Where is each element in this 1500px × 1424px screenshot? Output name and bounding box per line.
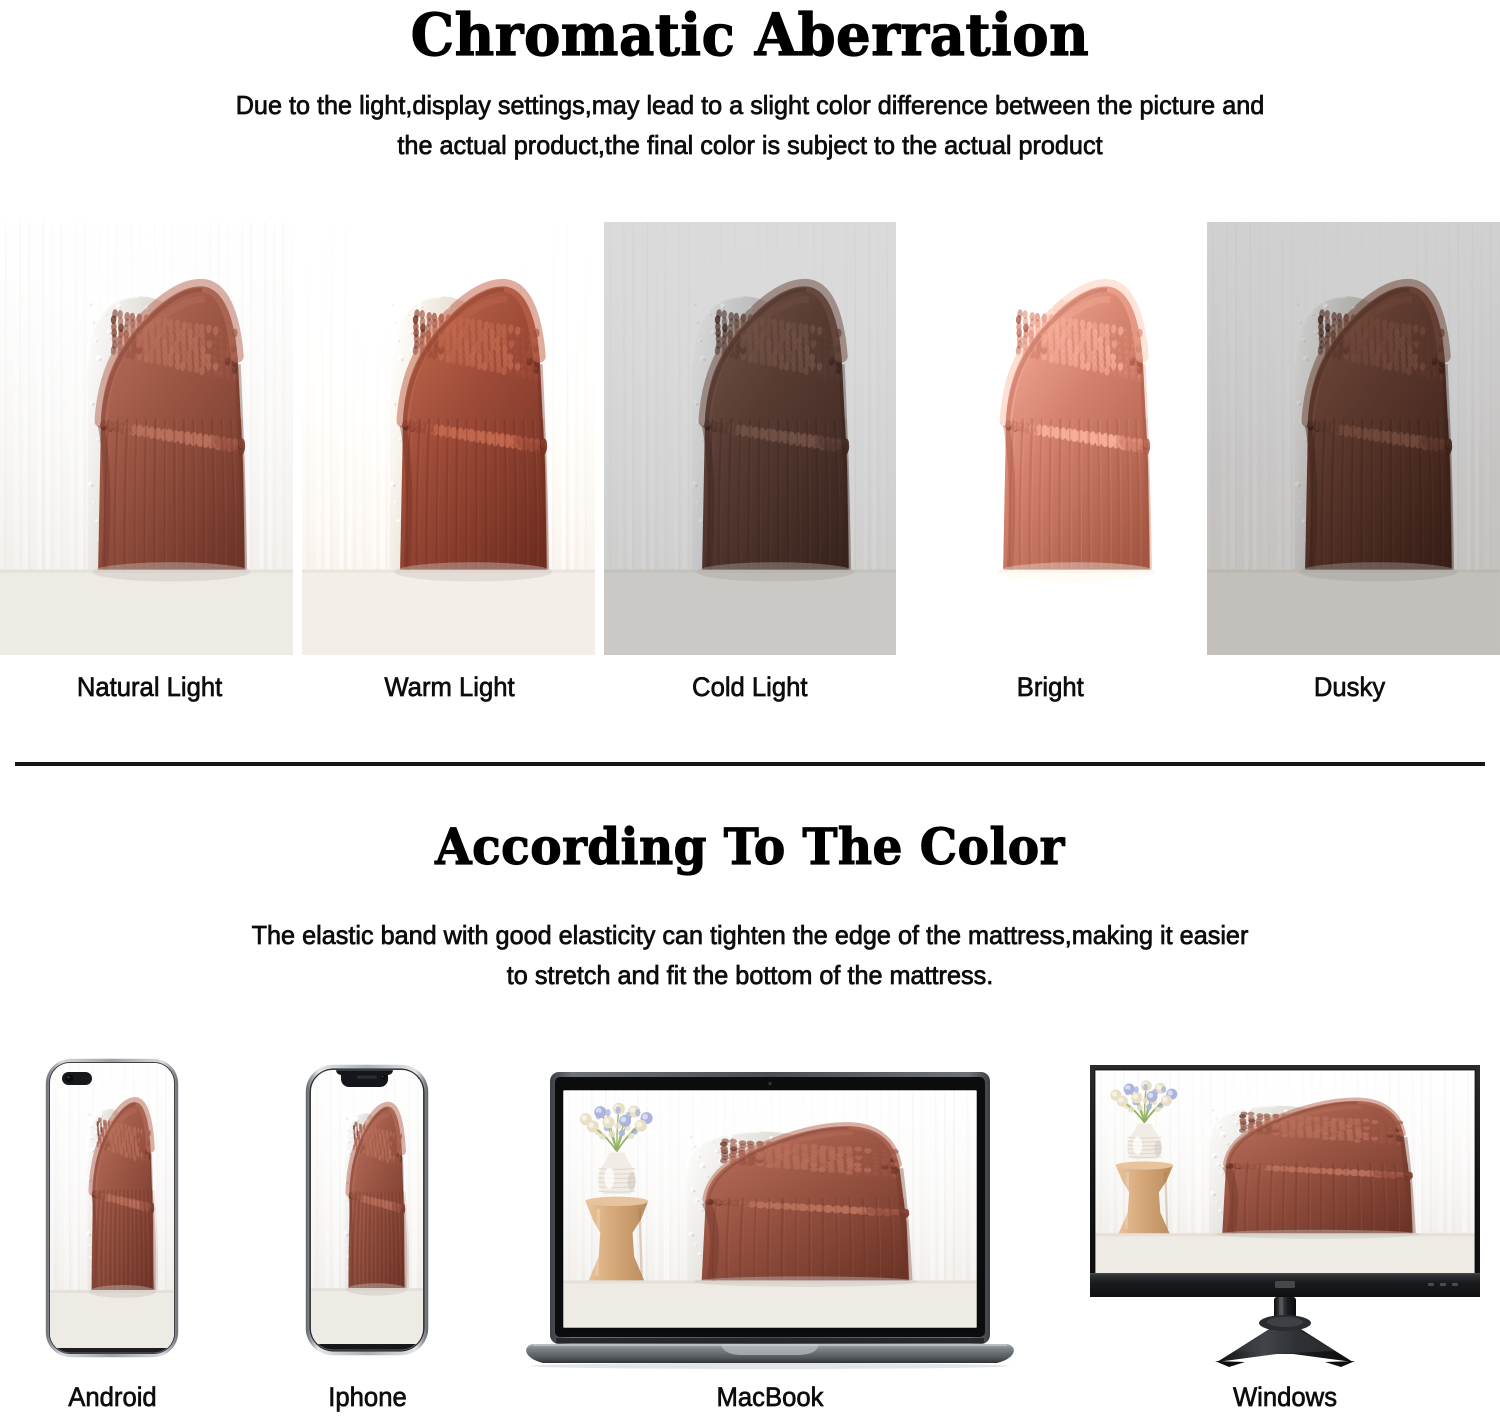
device-macbook [515,1070,1025,1370]
chromatic-subtitle-line2: the actual product,the final color is su… [81,126,1420,166]
device-label-android: Android [15,1382,210,1413]
monitor-osd-buttons [1428,1283,1458,1286]
lighting-label-cold-light: Cold Light [692,672,808,703]
lighting-label-bright: Bright [1016,672,1083,703]
device-label-iphone: Iphone [270,1382,465,1413]
lighting-panel-natural-light [0,222,293,655]
according-to-color-title: According To The Color [45,822,1455,872]
lighting-panel-cold-light [604,222,897,655]
chromatic-subtitle-line1: Due to the light,display settings,may le… [81,86,1420,126]
lighting-labels-row: Natural LightWarm LightCold LightBrightD… [0,672,1500,703]
color-subtitle-line1: The elastic band with good elasticity ca… [81,916,1420,956]
lighting-label-warm-light: Warm Light [385,672,515,703]
lighting-label-dusky: Dusky [1314,672,1385,703]
monitor-brand-logo [1275,1281,1295,1288]
device-mockup-row [0,1055,1500,1370]
device-labels-row: AndroidIphoneMacBookWindows [0,1382,1500,1424]
lighting-panel-dusky [1207,222,1500,655]
device-iphone [305,1064,429,1356]
lighting-label-natural-light: Natural Light [77,672,222,703]
lighting-panel-bright [905,222,1198,655]
device-windows-monitor [1085,1065,1485,1370]
device-android-phone [45,1058,179,1358]
pill-camera-cutout [62,1072,92,1085]
lighting-comparison-strip [0,222,1500,655]
notch [336,1070,393,1087]
section-divider [15,762,1485,766]
webcam-dot [768,1081,773,1086]
color-subtitle-line2: to stretch and fit the bottom of the mat… [81,956,1420,996]
v-stand [1215,1315,1355,1367]
chromatic-aberration-title: Chromatic Aberration [45,0,1455,64]
device-label-windows: Windows [1124,1382,1447,1413]
device-label-macbook: MacBook [609,1382,932,1413]
lighting-panel-warm-light [302,222,595,655]
